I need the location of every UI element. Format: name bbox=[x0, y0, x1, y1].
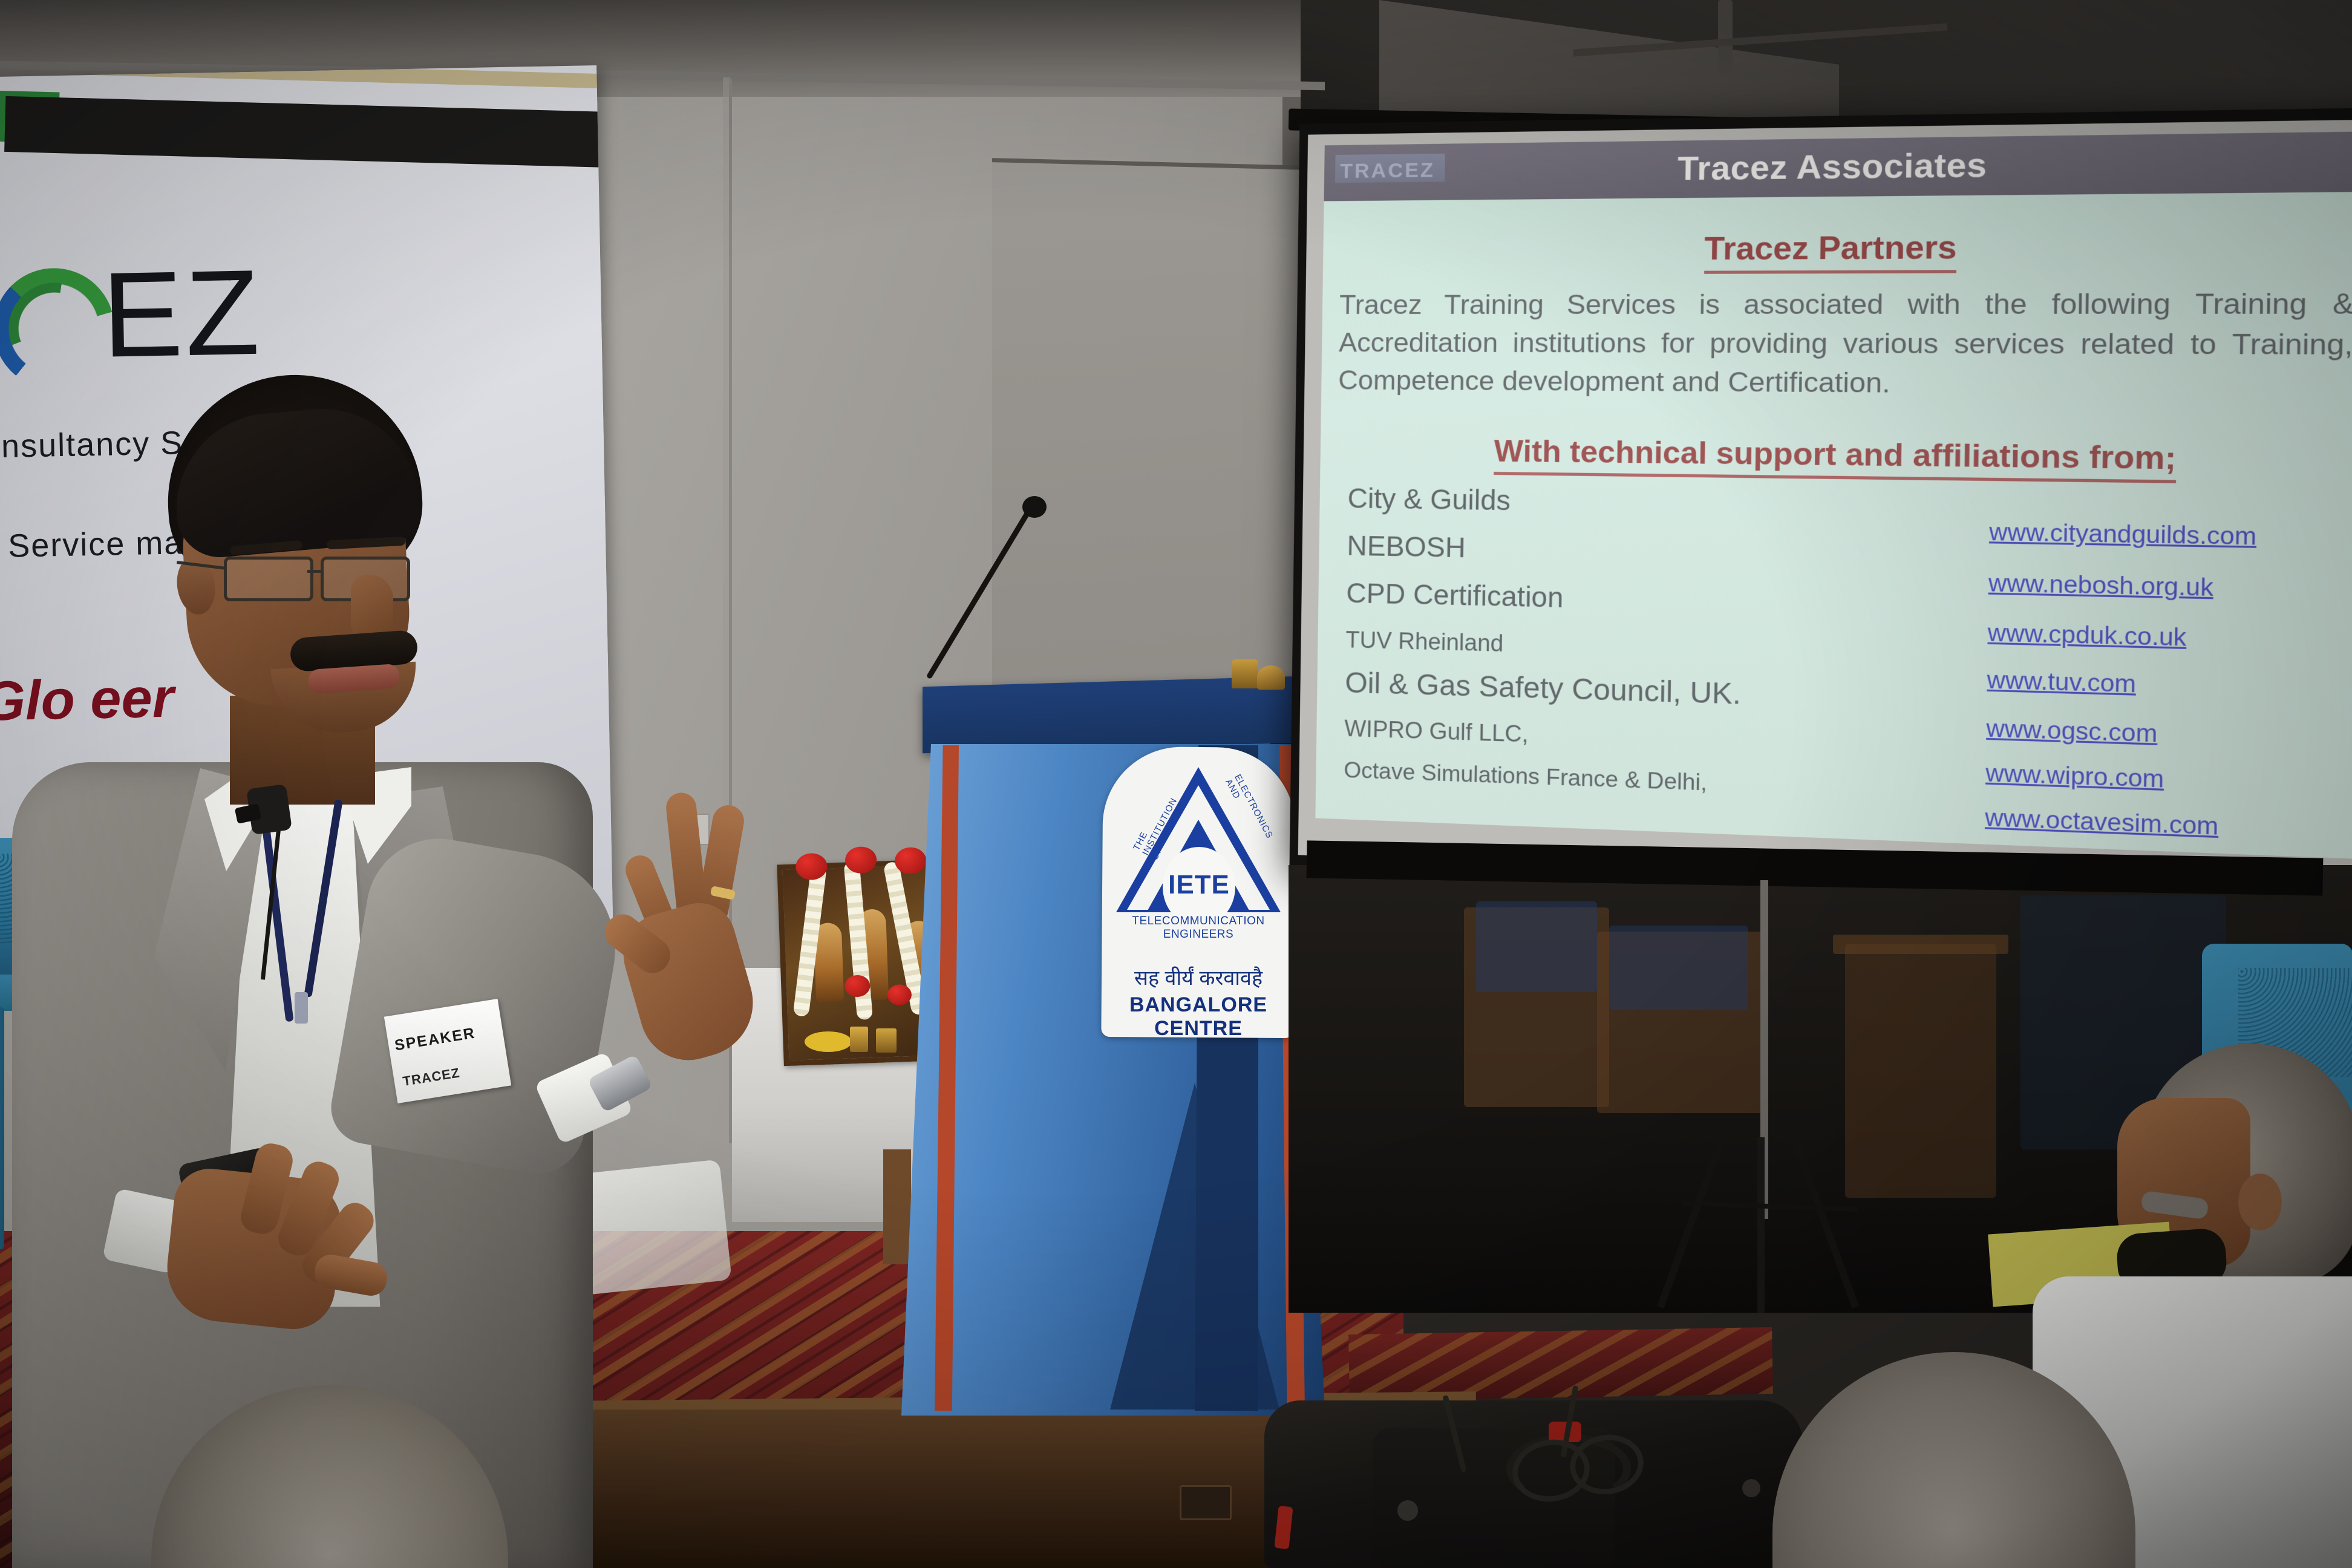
partner-url[interactable]: www.octavesim.com bbox=[1985, 805, 2219, 841]
eyeglass-lens bbox=[224, 557, 313, 601]
presenter-hand-with-clicker bbox=[145, 1125, 399, 1367]
red-rose bbox=[887, 984, 912, 1005]
eyeglasses-icon bbox=[224, 557, 423, 599]
slide-section-heading-text: Tracez Partners bbox=[1704, 229, 1957, 274]
projector-screen: TRACEZ Tracez Associates Tracez Partners… bbox=[1289, 107, 2352, 915]
speaker-badge: SPEAKER TRACEZ bbox=[384, 999, 511, 1103]
emblem-sanskrit-motto: सह वीर्यं करवावहै bbox=[1102, 963, 1295, 991]
microphone-head-icon bbox=[1022, 496, 1047, 518]
presenter: SPEAKER TRACEZ bbox=[12, 375, 768, 1568]
chair-blue-cushion bbox=[1609, 926, 1748, 1010]
slide-affiliations-heading: With technical support and affiliations … bbox=[1320, 431, 2352, 479]
red-rose bbox=[894, 847, 927, 875]
projected-slide: TRACEZ Tracez Associates Tracez Partners… bbox=[1315, 131, 2352, 859]
slide-paragraph: Tracez Training Services is associated w… bbox=[1338, 284, 2352, 406]
chair-blue-cushion bbox=[1476, 901, 1597, 992]
slide-body: Tracez Partners Tracez Training Services… bbox=[1315, 192, 2352, 860]
audience-member-ear bbox=[2238, 1174, 2282, 1230]
bag-stud bbox=[1397, 1500, 1418, 1521]
partner-name: City & Guilds bbox=[1347, 482, 1511, 517]
red-rose bbox=[844, 846, 877, 874]
emblem-subtitle: TELECOMMUNICATION ENGINEERS bbox=[1102, 915, 1295, 941]
tripod-leg bbox=[1757, 1137, 1765, 1313]
brass-lamp bbox=[876, 1028, 897, 1053]
presenter-gesturing-hand bbox=[620, 786, 765, 1071]
slide-affiliations-heading-text: With technical support and affiliations … bbox=[1494, 434, 2177, 483]
badge-role-label: SPEAKER bbox=[393, 1021, 497, 1054]
table-leg bbox=[883, 1149, 911, 1264]
partner-name: TUV Rheinland bbox=[1345, 627, 1504, 658]
partner-list: City & Guilds www.cityandguilds.com NEBO… bbox=[1344, 482, 2346, 840]
lectern-brass-figurine bbox=[1232, 659, 1258, 688]
partner-name: WIPRO Gulf LLC, bbox=[1344, 716, 1529, 748]
chair-leg bbox=[0, 1007, 4, 1249]
lectern-brass-figurine-2 bbox=[1257, 665, 1285, 690]
partner-name: NEBOSH bbox=[1347, 529, 1466, 564]
logo-letters-ez: EZ bbox=[101, 252, 263, 376]
badge-org-label: TRACEZ bbox=[402, 1059, 500, 1089]
banner-black-bar bbox=[4, 96, 613, 168]
emblem-initials: IETE bbox=[1163, 870, 1235, 900]
lanyard-clip bbox=[295, 992, 308, 1024]
wooden-stool bbox=[1845, 944, 1996, 1198]
brass-lamp bbox=[850, 1027, 868, 1052]
eyeglass-bridge bbox=[307, 570, 322, 573]
slide-section-heading: Tracez Partners bbox=[1323, 226, 2352, 269]
emblem-centre-name: BANGALORE CENTRE bbox=[1102, 993, 1295, 1040]
bag-stud bbox=[1742, 1479, 1760, 1497]
stage-carpet-right bbox=[1348, 1327, 1773, 1401]
ceiling-pipe bbox=[1718, 0, 1733, 73]
partner-name: CPD Certification bbox=[1346, 577, 1564, 614]
presentation-room-photo: A EZ nd Consultancy Servi ultancy Servic… bbox=[0, 0, 2352, 1568]
stage-latch bbox=[1180, 1485, 1232, 1520]
yellow-offering-plate bbox=[805, 1031, 852, 1052]
stool-top bbox=[1833, 935, 2008, 954]
